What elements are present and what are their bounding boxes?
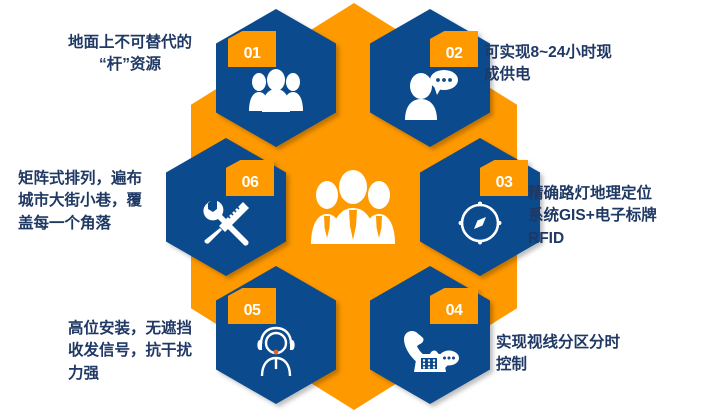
center-group-of-three-people-icon — [293, 158, 413, 258]
badge-number-03: 03 — [480, 160, 528, 196]
hexagon-item-03[interactable]: 03 — [420, 138, 540, 276]
item-label-04: 实现视线分区分时 控制 — [496, 332, 691, 377]
item-label-05: 高位安装，无遮挡 收发信号，抗干扰 力强 — [68, 318, 228, 385]
item-label-03: 精确路灯地理定位 系统GIS+电子标牌 RFID — [528, 183, 707, 250]
infographic-canvas: 01 02 — [0, 0, 707, 413]
badge-number-05: 05 — [228, 288, 276, 324]
item-label-01: 地面上不可替代的 “杆”资源 — [40, 32, 220, 77]
badge-number-04: 04 — [430, 288, 478, 324]
group-of-people-icon — [216, 69, 336, 113]
hexagon-item-04[interactable]: 04 — [370, 266, 490, 404]
item-label-02: 可实现8~24小时现 成供电 — [484, 42, 669, 87]
item-label-06: 矩阵式排列，遍布 城市大街小巷，覆 盖每一个角落 — [18, 168, 193, 235]
headset-support-agent-icon — [216, 326, 336, 378]
compass-icon — [420, 198, 540, 248]
badge-number-02: 02 — [430, 31, 478, 67]
telephone-with-speech-bubble-icon — [370, 326, 490, 374]
hexagon-item-01[interactable]: 01 — [216, 9, 336, 147]
hexagon-cluster: 01 02 — [180, 0, 528, 413]
hexagon-item-05[interactable]: 05 — [216, 266, 336, 404]
person-with-speech-bubble-icon — [370, 69, 490, 121]
badge-number-06: 06 — [226, 160, 274, 196]
badge-number-01: 01 — [228, 31, 276, 67]
hexagon-item-02[interactable]: 02 — [370, 9, 490, 147]
